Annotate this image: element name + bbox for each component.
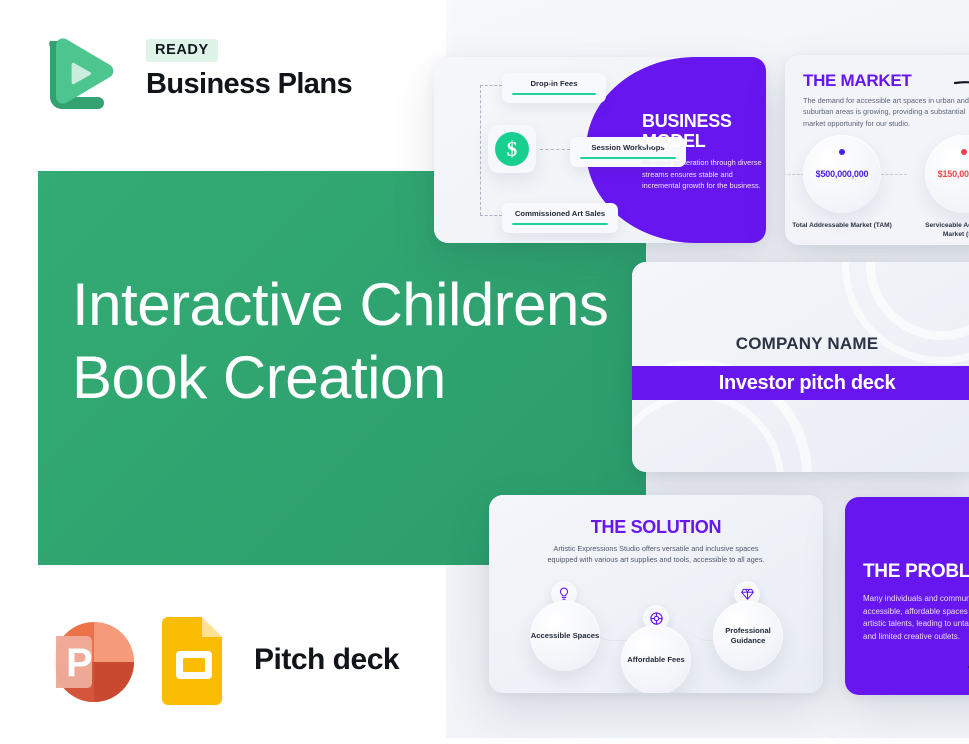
slide-description: Many individuals and communities lack ac…: [863, 593, 969, 643]
play-triangle-logo-icon: [38, 33, 116, 117]
chip-underline: [512, 93, 596, 95]
metric-amount: $500,000,000: [816, 169, 869, 179]
solution-node-2[interactable]: Affordable Fees: [621, 625, 691, 693]
metric-dot-icon: [839, 149, 845, 155]
solution-node-3[interactable]: Professional Guidance: [713, 601, 783, 671]
solution-node-label: Affordable Fees: [627, 655, 684, 665]
slide-description: Revenue generation through diverse strea…: [642, 157, 764, 192]
pitch-deck-subtitle: Investor pitch deck: [719, 372, 896, 395]
solution-node-label: Accessible Spaces: [531, 631, 599, 641]
metric-circle-tam[interactable]: $500,000,000: [803, 135, 881, 213]
page-title: Interactive Childrens Book Creation: [72, 268, 632, 414]
slide-title: THE PROBLEM: [863, 561, 969, 583]
brand-name: Business Plans: [146, 68, 352, 101]
slide-description: The demand for accessible art spaces in …: [803, 95, 969, 129]
chip-underline: [512, 223, 608, 225]
svg-text:P: P: [66, 641, 93, 685]
revenue-chip-label: Drop-in Fees: [512, 79, 596, 88]
pitch-deck-band: Investor pitch deck: [632, 366, 969, 400]
curved-arrow-icon: [953, 77, 969, 141]
brand-header: READY Business Plans: [38, 33, 368, 123]
slide-market[interactable]: THE MARKET The demand for accessible art…: [785, 55, 969, 245]
connector-bottom: [480, 215, 502, 216]
metric-caption: Serviceable Addressable Market (SAM): [914, 221, 969, 239]
dollar-sign-icon: $: [495, 132, 529, 166]
format-row: P Pitch deck: [38, 612, 399, 708]
metric-dot-icon: [961, 149, 967, 155]
slide-title: THE SOLUTION: [489, 517, 823, 538]
solution-node-label: Professional Guidance: [713, 626, 783, 646]
revenue-chip-1[interactable]: Drop-in Fees: [502, 73, 606, 103]
slide-problem[interactable]: THE PROBLEM Many individuals and communi…: [845, 497, 969, 695]
slide-solution[interactable]: THE SOLUTION Artistic Expressions Studio…: [489, 495, 823, 693]
format-label: Pitch deck: [254, 643, 399, 677]
connector-vertical: [480, 85, 481, 215]
connector-top: [480, 85, 502, 86]
company-name: COMPANY NAME: [632, 334, 969, 354]
metric-divider-mid: [881, 174, 907, 175]
google-slides-icon: [160, 615, 230, 705]
slide-cover[interactable]: COMPANY NAME Investor pitch deck: [632, 262, 969, 472]
slide-title: THE MARKET: [803, 71, 911, 91]
metric-caption: Total Addressable Market (TAM): [792, 221, 892, 230]
connector-mid: [540, 149, 570, 150]
microsoft-powerpoint-icon: P: [38, 614, 144, 706]
slide-description: Artistic Expressions Studio offers versa…: [539, 543, 773, 565]
slide-title: BUSINESS MODEL: [642, 111, 754, 151]
ready-badge: READY: [146, 39, 218, 62]
brand-text-block: READY Business Plans: [146, 39, 352, 101]
metric-amount: $150,000,000: [938, 169, 969, 179]
slide-business-model[interactable]: $ Drop-in Fees Session Workshops Commiss…: [434, 57, 766, 243]
poster-canvas: READY Business Plans Interactive Childre…: [0, 0, 969, 744]
metric-circle-sam[interactable]: $150,000,000: [925, 135, 969, 213]
dollar-badge: $: [488, 125, 536, 173]
solution-node-1[interactable]: Accessible Spaces: [530, 601, 600, 671]
revenue-chip-3[interactable]: Commissioned Art Sales: [502, 203, 618, 233]
revenue-chip-label: Commissioned Art Sales: [512, 209, 608, 218]
